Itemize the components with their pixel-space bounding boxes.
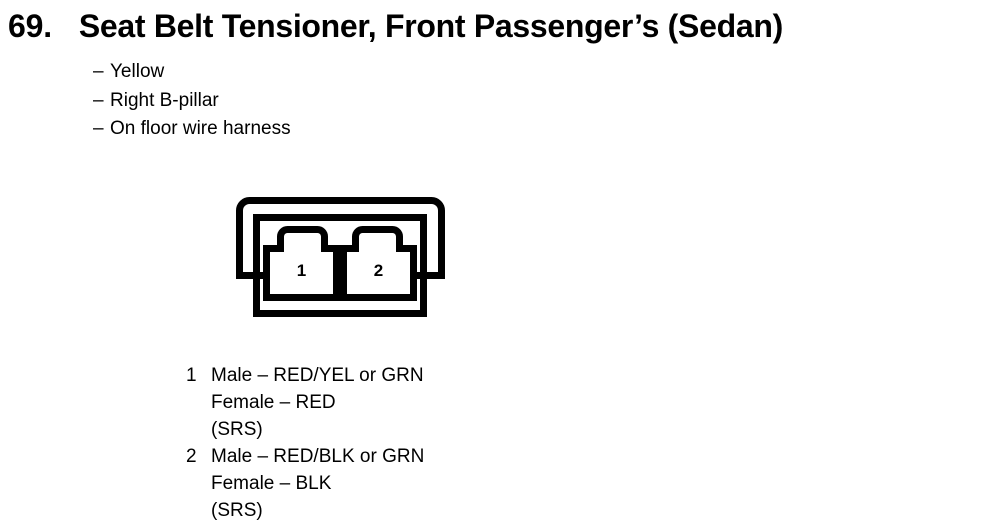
pin-cavity-1-number: 1 (297, 261, 306, 280)
legend-row: (SRS) (186, 416, 606, 443)
list-item: – Right B-pillar (93, 87, 593, 116)
legend-row: 1 Male – RED/YEL or GRN (186, 362, 606, 389)
connector-reference-page: 69. Seat Belt Tensioner, Front Passenger… (0, 0, 992, 528)
legend-entry-pin-2: 2 Male – RED/BLK or GRN Female – BLK (SR… (186, 443, 606, 524)
en-dash-bullet-icon: – (93, 58, 110, 87)
legend-row: (SRS) (186, 497, 606, 524)
legend-female-wire-color: Female – BLK (211, 470, 331, 497)
legend-row: Female – BLK (186, 470, 606, 497)
en-dash-bullet-icon: – (93, 115, 110, 144)
pin-legend: 1 Male – RED/YEL or GRN Female – RED (SR… (186, 362, 606, 524)
legend-entry-pin-1: 1 Male – RED/YEL or GRN Female – RED (SR… (186, 362, 606, 443)
page-header: 69. Seat Belt Tensioner, Front Passenger… (8, 6, 984, 50)
list-item-label: Yellow (110, 58, 164, 87)
en-dash-bullet-icon: – (93, 87, 110, 116)
list-item-label: Right B-pillar (110, 87, 219, 116)
legend-system-tag: (SRS) (211, 497, 263, 524)
item-number: 69. (8, 6, 52, 46)
legend-system-tag: (SRS) (211, 416, 263, 443)
legend-male-wire-color: Male – RED/BLK or GRN (211, 443, 424, 470)
legend-female-wire-color: Female – RED (211, 389, 336, 416)
pin-cavity-2-number: 2 (374, 261, 383, 280)
legend-pin-number: 1 (186, 362, 211, 389)
legend-male-wire-color: Male – RED/YEL or GRN (211, 362, 424, 389)
list-item-label: On floor wire harness (110, 115, 291, 144)
list-item: – Yellow (93, 58, 593, 87)
connector-face-view-svg: 1 2 (228, 192, 453, 322)
legend-pin-number: 2 (186, 443, 211, 470)
attribute-list: – Yellow – Right B-pillar – On floor wir… (93, 58, 593, 144)
connector-diagram: 1 2 (228, 192, 453, 322)
legend-row: Female – RED (186, 389, 606, 416)
list-item: – On floor wire harness (93, 115, 593, 144)
legend-row: 2 Male – RED/BLK or GRN (186, 443, 606, 470)
page-title: Seat Belt Tensioner, Front Passenger’s (… (79, 6, 783, 46)
